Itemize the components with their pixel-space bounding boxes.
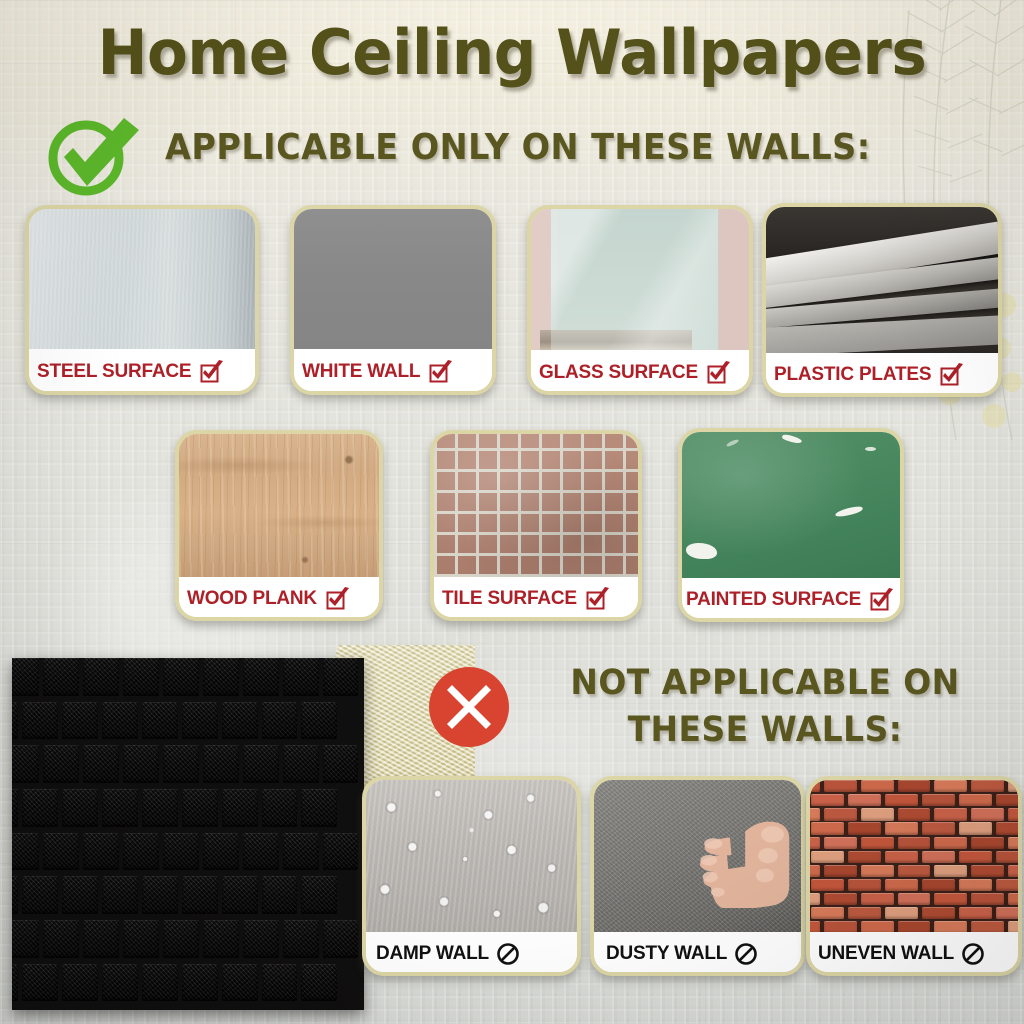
surface-label: PLASTIC PLATES bbox=[774, 364, 931, 386]
surface-label: DAMP WALL bbox=[376, 943, 489, 965]
brick-row bbox=[810, 837, 1018, 852]
surface-photo-painted bbox=[682, 432, 900, 578]
brick-row bbox=[810, 865, 1018, 880]
surface-card-white-wall[interactable]: WHITE WALL bbox=[290, 205, 496, 395]
surface-card-plastic-plates[interactable]: PLASTIC PLATES bbox=[762, 203, 1002, 397]
surface-photo-glass bbox=[531, 209, 749, 350]
green-check-circle-icon bbox=[38, 112, 150, 198]
surface-photo-damp bbox=[366, 780, 577, 932]
red-x-circle-icon bbox=[428, 666, 510, 748]
red-check-box-icon bbox=[938, 363, 964, 387]
surface-photo-steel bbox=[29, 209, 255, 349]
surface-card-damp-wall[interactable]: DAMP WALL bbox=[362, 776, 581, 976]
not-applicable-heading: NOT APPLICABLE ON THESE WALLS: bbox=[558, 660, 972, 754]
surface-photo-plastic bbox=[766, 207, 998, 353]
not-applicable-heading-line1: NOT APPLICABLE ON bbox=[558, 660, 972, 707]
surface-card-painted-surface[interactable]: PAINTED SURFACE bbox=[678, 428, 904, 622]
surface-card-glass-surface[interactable]: GLASS SURFACE bbox=[527, 205, 753, 395]
brick-row bbox=[810, 879, 1018, 894]
brick-row bbox=[810, 794, 1018, 809]
page-title: Home Ceiling Wallpapers bbox=[20, 20, 1003, 86]
red-check-box-icon bbox=[324, 587, 350, 611]
infographic-canvas: Home Ceiling Wallpapers APPLICABLE ONLY … bbox=[0, 0, 1024, 1024]
brick-row bbox=[810, 851, 1018, 866]
hand-icon bbox=[681, 801, 801, 907]
red-check-box-icon bbox=[868, 588, 894, 612]
prohibited-icon bbox=[734, 942, 758, 966]
surface-card-tile-surface[interactable]: TILE SURFACE bbox=[430, 430, 642, 621]
surface-photo-wood bbox=[179, 434, 379, 577]
surface-card-dusty-wall[interactable]: DUSTY WALL bbox=[590, 776, 805, 976]
brick-row bbox=[810, 907, 1018, 922]
surface-label: PAINTED SURFACE bbox=[686, 589, 861, 611]
surface-label: WOOD PLANK bbox=[187, 588, 317, 610]
surface-label-strip: PAINTED SURFACE bbox=[682, 582, 900, 618]
surface-photo-dusty bbox=[594, 780, 801, 932]
red-check-box-icon bbox=[584, 587, 610, 611]
surface-label-strip: GLASS SURFACE bbox=[531, 354, 749, 391]
surface-label-strip: UNEVEN WALL bbox=[810, 936, 1018, 972]
surface-label-strip: STEEL SURFACE bbox=[29, 353, 255, 391]
surface-label: GLASS SURFACE bbox=[539, 362, 698, 384]
surface-label-strip: TILE SURFACE bbox=[434, 581, 638, 617]
surface-label: UNEVEN WALL bbox=[818, 943, 954, 965]
surface-label-strip: DUSTY WALL bbox=[594, 936, 801, 972]
brick-row bbox=[810, 808, 1018, 823]
brick-row bbox=[810, 893, 1018, 908]
brick-row bbox=[810, 822, 1018, 837]
surface-label: WHITE WALL bbox=[302, 361, 420, 383]
brick-row bbox=[810, 780, 1018, 795]
surface-label-strip: DAMP WALL bbox=[366, 936, 577, 972]
red-check-box-icon bbox=[427, 360, 453, 384]
red-check-box-icon bbox=[705, 361, 731, 385]
red-check-box-icon bbox=[198, 360, 224, 384]
surface-label-strip: WOOD PLANK bbox=[179, 581, 379, 617]
surface-photo-brick bbox=[810, 780, 1018, 932]
surface-card-uneven-wall[interactable]: UNEVEN WALL bbox=[806, 776, 1022, 976]
surface-label: STEEL SURFACE bbox=[37, 361, 191, 383]
surface-photo-white-wall bbox=[294, 209, 492, 349]
not-applicable-heading-line2: THESE WALLS: bbox=[558, 707, 972, 754]
applicable-heading: APPLICABLE ONLY ON THESE WALLS: bbox=[165, 128, 871, 168]
surface-label-strip: PLASTIC PLATES bbox=[766, 357, 998, 393]
prohibited-icon bbox=[496, 942, 520, 966]
prohibited-icon bbox=[961, 942, 985, 966]
surface-label-strip: WHITE WALL bbox=[294, 353, 492, 391]
surface-photo-tile bbox=[434, 434, 638, 577]
surface-card-wood-plank[interactable]: WOOD PLANK bbox=[175, 430, 383, 621]
surface-card-steel-surface[interactable]: STEEL SURFACE bbox=[25, 205, 259, 395]
surface-label: TILE SURFACE bbox=[442, 588, 577, 610]
surface-label: DUSTY WALL bbox=[606, 943, 727, 965]
product-sample-black-brick-panel bbox=[12, 658, 364, 1010]
brick-row bbox=[810, 921, 1018, 932]
